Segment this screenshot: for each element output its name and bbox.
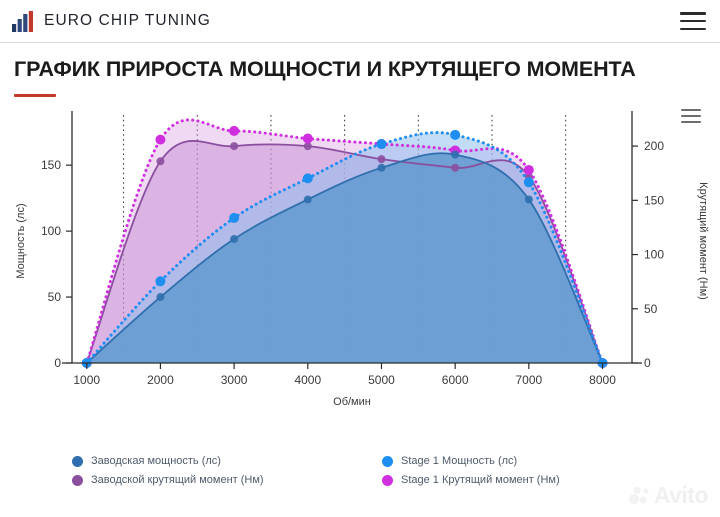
y-axis-label-left: Мощность (лс) xyxy=(15,203,27,278)
y-tick-label-right: 200 xyxy=(644,139,664,153)
title-accent-rule xyxy=(14,94,56,97)
legend-swatch-icon xyxy=(382,475,393,486)
legend-label: Stage 1 Крутящий момент (Нм) xyxy=(401,474,560,486)
data-point xyxy=(229,126,239,136)
data-point xyxy=(304,196,312,204)
page-title: ГРАФИК ПРИРОСТА МОЩНОСТИ И КРУТЯЩЕГО МОМ… xyxy=(14,57,706,81)
avito-dots-icon xyxy=(629,486,651,506)
data-point xyxy=(377,164,385,172)
chart-legend: Заводская мощность (лс) Заводской крутящ… xyxy=(0,455,720,486)
x-tick-label: 7000 xyxy=(515,373,542,387)
x-axis-label: Об/мин xyxy=(333,396,371,408)
data-point xyxy=(156,157,164,165)
data-point xyxy=(230,235,238,243)
x-tick-label: 4000 xyxy=(294,373,321,387)
data-point xyxy=(230,142,238,150)
y-axis-label-right: Крутящий момент (Нм) xyxy=(697,182,709,300)
chart-context-menu-icon[interactable] xyxy=(681,109,701,123)
legend-item-factory-power[interactable]: Заводская мощность (лс) xyxy=(72,455,382,467)
hamburger-line xyxy=(680,20,706,23)
data-point xyxy=(525,196,533,204)
legend-item-factory-torque[interactable]: Заводской крутящий момент (Нм) xyxy=(72,474,382,486)
legend-swatch-icon xyxy=(382,456,393,467)
data-point xyxy=(451,151,459,159)
menu-line xyxy=(681,115,701,117)
x-tick-label: 3000 xyxy=(221,373,248,387)
y-tick-label-right: 100 xyxy=(644,248,664,262)
y-tick-label-left: 0 xyxy=(54,356,61,370)
y-tick-label-left: 100 xyxy=(41,224,61,238)
y-tick-label-left: 150 xyxy=(41,158,61,172)
x-tick-label: 8000 xyxy=(589,373,616,387)
top-bar: EURO CHIP TUNING xyxy=(0,0,720,43)
avito-watermark-text: Avito xyxy=(654,482,708,509)
data-point xyxy=(303,173,313,183)
hamburger-line xyxy=(680,12,706,15)
legend-swatch-icon xyxy=(72,475,83,486)
data-point xyxy=(376,139,386,149)
data-point xyxy=(156,293,164,301)
data-point xyxy=(303,134,313,144)
legend-column-factory: Заводская мощность (лс) Заводской крутящ… xyxy=(72,455,382,486)
avito-watermark: Avito xyxy=(629,482,708,509)
data-point xyxy=(451,164,459,172)
title-block: ГРАФИК ПРИРОСТА МОЩНОСТИ И КРУТЯЩЕГО МОМ… xyxy=(0,43,720,97)
data-point xyxy=(377,155,385,163)
data-point xyxy=(155,276,165,286)
data-point xyxy=(524,165,534,175)
chart-container: 0501001500501001502001000200030004000500… xyxy=(0,101,720,491)
hamburger-menu-icon[interactable] xyxy=(680,12,706,30)
x-tick-label: 6000 xyxy=(442,373,469,387)
brand-name: EURO CHIP TUNING xyxy=(44,12,211,30)
bar-chart-logo-icon xyxy=(12,11,35,32)
legend-label: Stage 1 Мощность (лс) xyxy=(401,455,517,467)
menu-line xyxy=(681,121,701,123)
legend-column-stage1: Stage 1 Мощность (лс) Stage 1 Крутящий м… xyxy=(382,455,560,486)
menu-line xyxy=(681,109,701,111)
y-tick-label-right: 50 xyxy=(644,302,658,316)
data-point xyxy=(524,177,534,187)
legend-swatch-icon xyxy=(72,456,83,467)
x-tick-label: 2000 xyxy=(147,373,174,387)
brand[interactable]: EURO CHIP TUNING xyxy=(12,11,211,32)
y-tick-label-right: 0 xyxy=(644,356,651,370)
hamburger-line xyxy=(680,28,706,31)
x-tick-label: 5000 xyxy=(368,373,395,387)
legend-item-stage1-power[interactable]: Stage 1 Мощность (лс) xyxy=(382,455,560,467)
x-tick-label: 1000 xyxy=(73,373,100,387)
legend-label: Заводской крутящий момент (Нм) xyxy=(91,474,264,486)
legend-label: Заводская мощность (лс) xyxy=(91,455,221,467)
data-point xyxy=(155,135,165,145)
y-tick-label-right: 150 xyxy=(644,193,664,207)
legend-item-stage1-torque[interactable]: Stage 1 Крутящий момент (Нм) xyxy=(382,474,560,486)
y-tick-label-left: 50 xyxy=(48,290,62,304)
data-point xyxy=(450,130,460,140)
data-point xyxy=(229,213,239,223)
power-torque-chart: 0501001500501001502001000200030004000500… xyxy=(0,101,720,491)
